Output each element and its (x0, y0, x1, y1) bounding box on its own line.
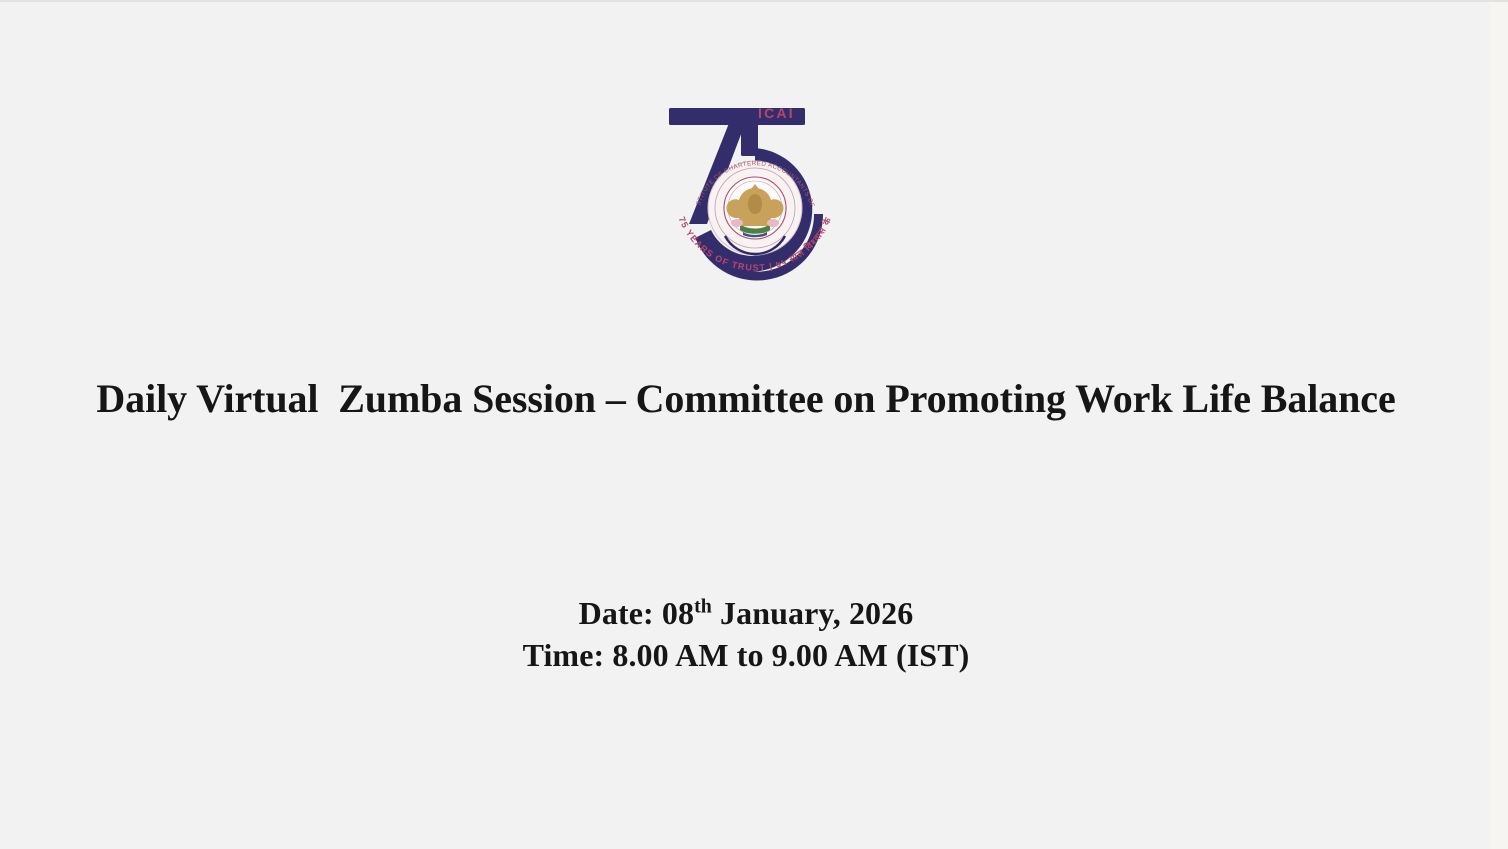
icai-75-logo-icon: ICAI THE INSTITUTE OF CHARTERED ACCOUNTA… (655, 96, 855, 296)
date-day: 08 (662, 595, 694, 631)
date-label: Date: (579, 595, 662, 631)
session-date-line: Date: 08th January, 2026 (0, 592, 1492, 634)
session-details: Date: 08th January, 2026 Time: 8.00 AM t… (0, 592, 1492, 676)
slide-headline: Daily Virtual Zumba Session – Committee … (0, 376, 1492, 422)
logo-acronym-text: ICAI (758, 105, 795, 121)
date-ordinal-suffix: th (694, 595, 712, 617)
presentation-slide: ICAI THE INSTITUTE OF CHARTERED ACCOUNTA… (0, 0, 1508, 849)
icai-75-years-logo: ICAI THE INSTITUTE OF CHARTERED ACCOUNTA… (655, 96, 855, 296)
session-time-line: Time: 8.00 AM to 9.00 AM (IST) (0, 634, 1492, 676)
top-border-rule (0, 0, 1508, 2)
date-remainder: January, 2026 (712, 595, 913, 631)
right-edge-strip (1490, 2, 1508, 849)
